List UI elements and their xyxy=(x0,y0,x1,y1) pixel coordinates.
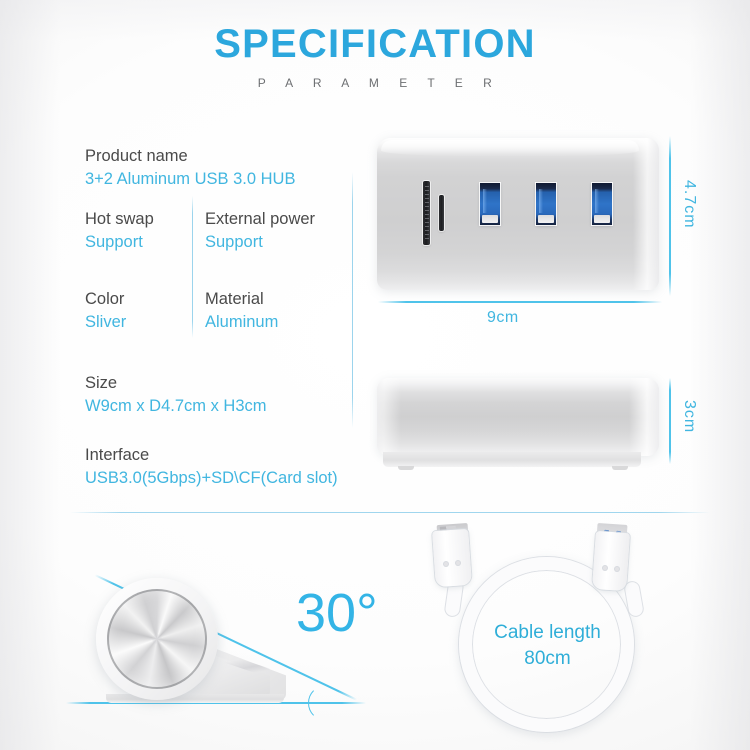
usb-a-dot-left xyxy=(603,566,607,570)
hub-front-view xyxy=(377,138,659,290)
spec-hot-swap: Hot swap Support xyxy=(85,208,154,254)
usb-port-3-sheen xyxy=(595,189,599,213)
spec-interface-label: Interface xyxy=(85,444,338,466)
spec-material-label: Material xyxy=(205,288,278,310)
usb-a-dot-right xyxy=(615,567,619,571)
usb-port-2 xyxy=(536,183,556,225)
header: SPECIFICATION P A R A M E T E R xyxy=(0,20,750,90)
sd-card-slot xyxy=(439,195,444,231)
usb-port-1-sheen xyxy=(483,189,487,213)
spec-external-power-label: External power xyxy=(205,208,315,230)
spec-color-value: Sliver xyxy=(85,310,126,334)
height-dimension-line xyxy=(669,378,671,464)
spec-color-label: Color xyxy=(85,288,126,310)
spec-interface-value: USB3.0(5Gbps)+SD\CF(Card slot) xyxy=(85,466,338,490)
spec-interface: Interface USB3.0(5Gbps)+SD\CF(Card slot) xyxy=(85,444,338,490)
spec-product-name-label: Product name xyxy=(85,145,295,167)
spec-size: Size W9cm x D4.7cm x H3cm xyxy=(85,372,267,418)
aluminum-cap-center xyxy=(152,634,162,644)
usb-port-3-tongue xyxy=(594,215,610,223)
usb-port-2-sheen xyxy=(539,189,543,213)
spec-color: Color Sliver xyxy=(85,288,126,334)
usb-port-1 xyxy=(480,183,500,225)
depth-dimension-line xyxy=(669,136,671,296)
page-subtitle: P A R A M E T E R xyxy=(0,76,750,90)
usb-port-1-tongue xyxy=(482,215,498,223)
usb-port-3 xyxy=(592,183,612,225)
spec-product-name: Product name 3+2 Aluminum USB 3.0 HUB xyxy=(85,145,295,191)
spec-hot-swap-label: Hot swap xyxy=(85,208,154,230)
spec-external-power: External power Support xyxy=(205,208,315,254)
width-dimension-label: 9cm xyxy=(487,309,519,327)
hub-front-face xyxy=(377,138,659,290)
page-title: SPECIFICATION xyxy=(0,20,750,68)
spec-column-divider xyxy=(192,196,193,338)
cable-length-line-2: 80cm xyxy=(470,646,625,672)
height-dimension-label: 3cm xyxy=(680,400,698,433)
specification-infographic: SPECIFICATION P A R A M E T E R Product … xyxy=(0,0,750,750)
hub-side-foot-left xyxy=(398,466,414,470)
spec-product-name-value: 3+2 Aluminum USB 3.0 HUB xyxy=(85,167,295,191)
hub-side-foot-right xyxy=(612,466,628,470)
hub-top-highlight xyxy=(381,140,639,156)
micro-usb-dot-left xyxy=(444,562,448,566)
micro-usb-connector xyxy=(432,529,472,587)
depth-dimension-label: 4.7cm xyxy=(680,180,698,229)
spec-hot-swap-value: Support xyxy=(85,230,154,254)
hub-side-base xyxy=(383,452,641,467)
usb-port-2-tongue xyxy=(538,215,554,223)
section-divider-horizontal xyxy=(70,512,710,513)
spec-section-divider xyxy=(352,172,353,428)
cable-length-line-1: Cable length xyxy=(470,620,625,646)
spec-external-power-value: Support xyxy=(205,230,315,254)
hub-side-view xyxy=(377,378,659,456)
spec-material: Material Aluminum xyxy=(205,288,278,334)
angle-value-label: 30° xyxy=(296,586,378,640)
micro-usb-dot-right xyxy=(456,561,460,565)
width-dimension-line xyxy=(378,301,662,303)
cable-length-caption: Cable length 80cm xyxy=(470,620,625,672)
cf-card-slot xyxy=(423,181,430,245)
spec-material-value: Aluminum xyxy=(205,310,278,334)
spec-size-label: Size xyxy=(85,372,267,394)
usb-a-connector xyxy=(592,531,630,591)
spec-size-value: W9cm x D4.7cm x H3cm xyxy=(85,394,267,418)
